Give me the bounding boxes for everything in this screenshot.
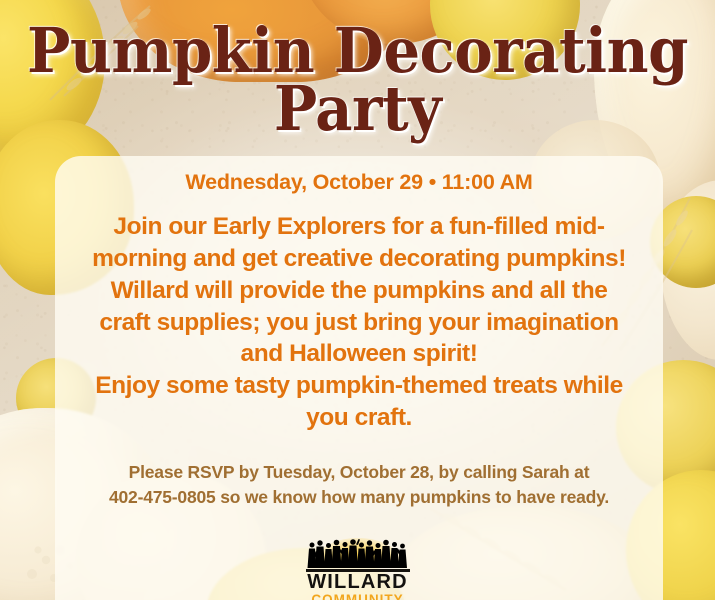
willard-community-center-logo: WILLARD COMMUNITY C E N T E R <box>306 536 410 600</box>
logo-community-text: COMMUNITY <box>306 593 410 600</box>
title-line-2: Party <box>25 80 690 138</box>
logo-sunburst <box>306 536 410 568</box>
description-line: and Halloween spirit! <box>59 338 659 370</box>
event-description: Join our Early Explorers for a fun-fille… <box>55 211 663 434</box>
description-line: you craft. <box>59 402 659 434</box>
poster-flyer: Pumpkin Decorating Party Wednesday, Octo… <box>0 0 715 600</box>
description-line: craft supplies; you just bring your imag… <box>59 307 659 339</box>
description-line: Enjoy some tasty pumpkin-themed treats w… <box>59 370 659 402</box>
poster-title: Pumpkin Decorating Party <box>0 22 715 139</box>
description-line: morning and get creative decorating pump… <box>59 243 659 275</box>
rsvp-instructions: Please RSVP by Tuesday, October 28, by c… <box>55 460 663 511</box>
rsvp-line: 402-475-0805 so we know how many pumpkin… <box>63 485 655 510</box>
event-datetime: Wednesday, October 29 • 11:00 AM <box>55 170 663 195</box>
rsvp-line: Please RSVP by Tuesday, October 28, by c… <box>63 460 655 485</box>
card-content: Wednesday, October 29 • 11:00 AM Join ou… <box>55 156 663 600</box>
logo-willard-text: WILLARD <box>306 572 410 593</box>
description-line: Willard will provide the pumpkins and al… <box>59 275 659 307</box>
crowd-silhouette-icon <box>306 538 410 568</box>
description-line: Join our Early Explorers for a fun-fille… <box>59 211 659 243</box>
